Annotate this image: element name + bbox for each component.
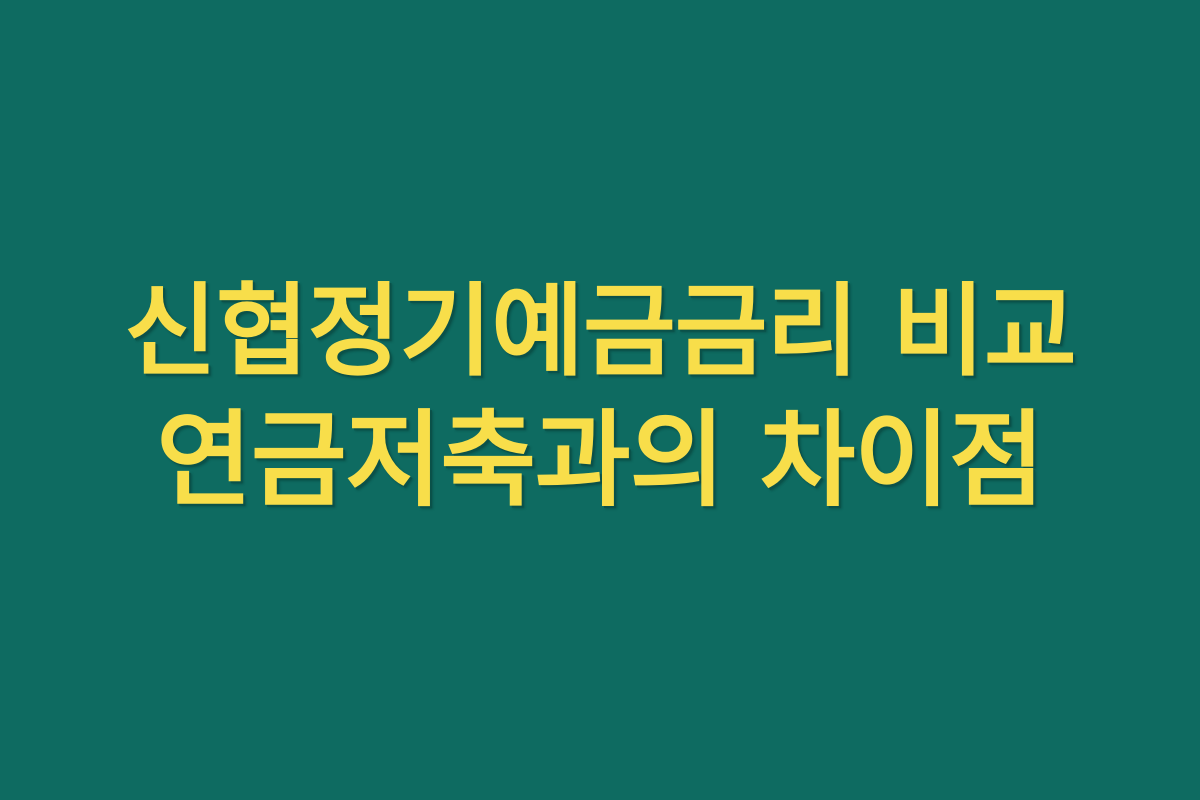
banner-title-line-1: 신협정기예금금리 비교 <box>0 268 1200 395</box>
banner-canvas: 신협정기예금금리 비교 연금저축과의 차이점 <box>0 0 1200 800</box>
banner-title-block: 신협정기예금금리 비교 연금저축과의 차이점 <box>0 268 1200 526</box>
banner-title-line-2: 연금저축과의 차이점 <box>0 395 1200 526</box>
